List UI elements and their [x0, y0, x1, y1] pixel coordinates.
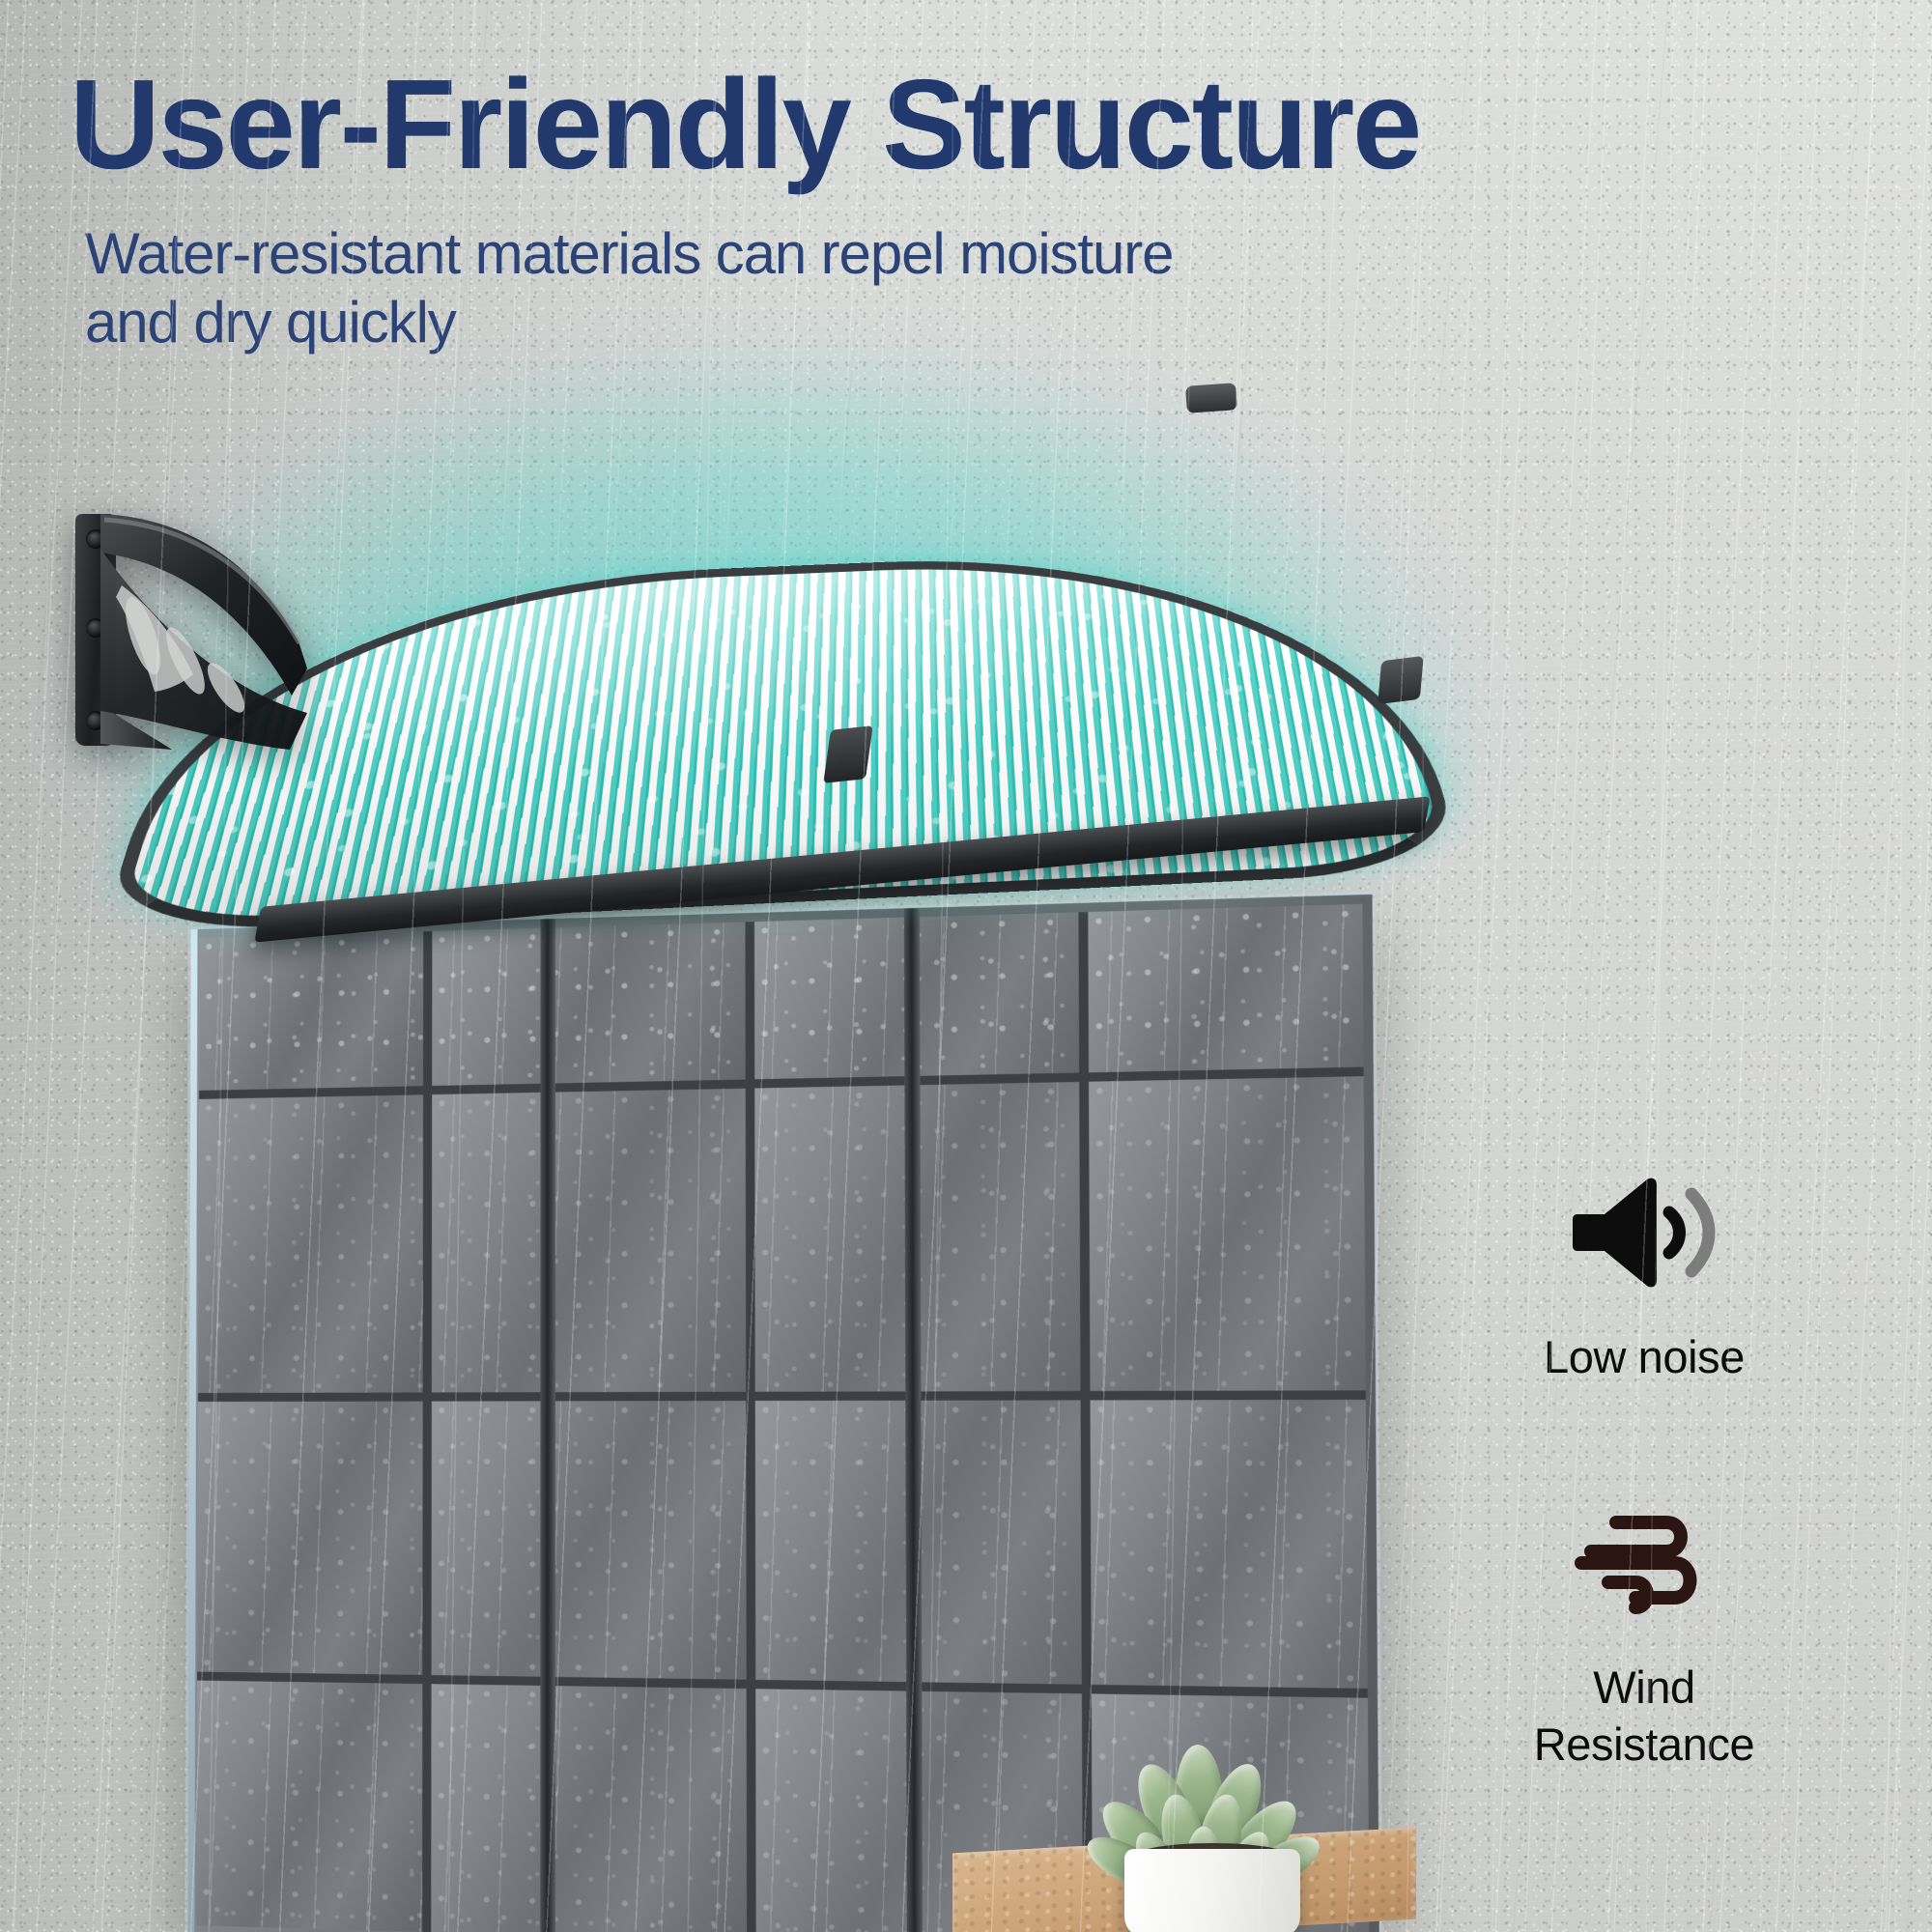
feature-label: Wind Resistance: [1534, 1660, 1755, 1773]
succulent-plant: [1080, 1739, 1341, 1932]
feature-list: Low noise Wind Resistance: [1470, 1169, 1818, 1773]
wind-resistance-icon: [1574, 1499, 1715, 1627]
plant-pot: [1124, 1849, 1300, 1932]
door-mullion: [540, 919, 555, 1932]
glass-pane: [432, 1684, 747, 1932]
feature-wind-resistance: Wind Resistance: [1534, 1499, 1755, 1773]
product-marketing-image: User-Friendly Structure Water-resistant …: [0, 0, 1932, 1932]
canopy-middle-rib: [823, 725, 873, 783]
glass-pane: [1091, 1400, 1368, 1689]
canopy-end-cap: [1378, 656, 1424, 704]
glass-pane: [432, 1401, 747, 1679]
page-title: User-Friendly Structure: [70, 60, 1859, 190]
wall-mount-bracket: [75, 514, 317, 755]
feature-low-noise: Low noise: [1544, 1169, 1745, 1385]
canopy-top-cap: [1185, 383, 1237, 413]
page-subtitle: Water-resistant materials can repel mois…: [85, 220, 1225, 357]
door-mullion: [904, 908, 923, 1932]
glass-pane: [1090, 1076, 1366, 1391]
door-canopy-awning: [93, 369, 1464, 949]
glass-pane: [197, 1402, 423, 1675]
glass-pane: [198, 1094, 423, 1393]
glass-pane: [432, 1089, 746, 1393]
feature-label: Low noise: [1544, 1329, 1745, 1385]
speaker-icon: [1572, 1169, 1717, 1296]
glass-pane: [199, 931, 424, 1091]
bracket-support-arm: [100, 514, 307, 750]
glass-pane: [196, 1681, 422, 1932]
